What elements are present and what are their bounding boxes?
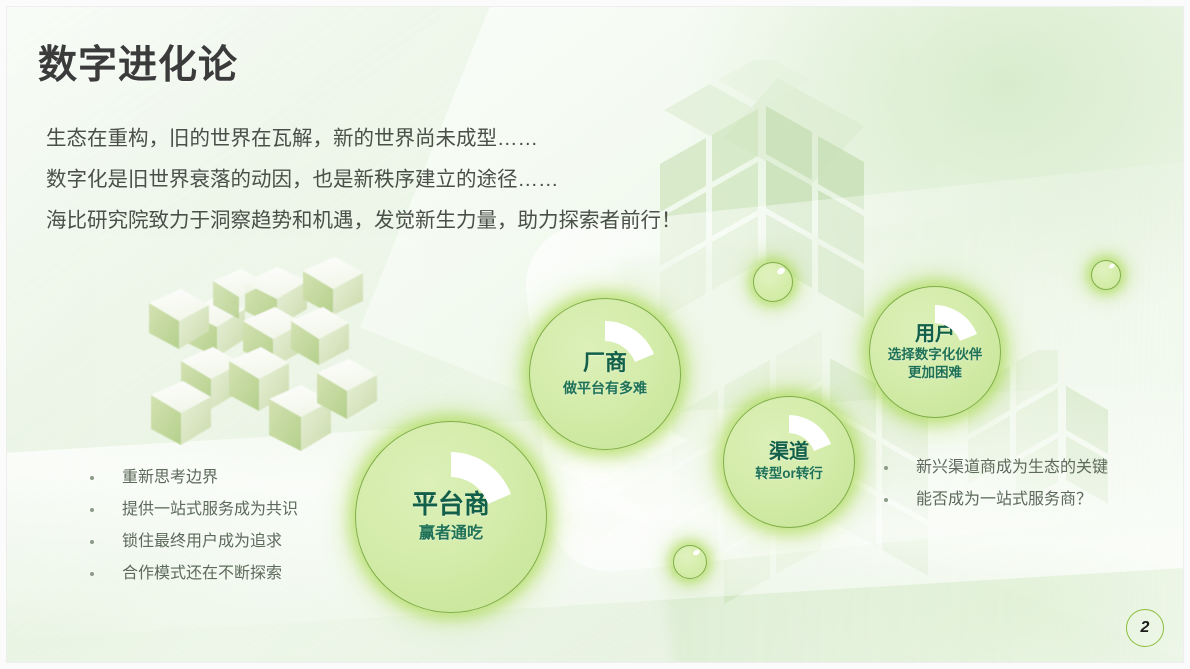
bubble-subtitle: 赢者通吃	[419, 524, 483, 544]
bubble-channel[interactable]: 渠道 转型or转行	[723, 396, 855, 528]
list-item: 新兴渠道商成为生态的关键	[880, 452, 1108, 484]
list-item: 提供一站式服务成为共识	[86, 494, 298, 526]
bubble-subtitle: 做平台有多难	[563, 380, 647, 397]
bubble-user[interactable]: 用户 选择数字化伙伴 更加困难	[869, 286, 1001, 418]
decorative-dot-lower	[673, 545, 707, 579]
slide-canvas: 数字进化论 生态在重构，旧的世界在瓦解，新的世界尚未成型…… 数字化是旧世界衰落…	[0, 0, 1190, 669]
bubble-subtitle: 转型or转行	[755, 466, 823, 482]
lede-line-1: 生态在重构，旧的世界在瓦解，新的世界尚未成型……	[46, 118, 806, 159]
list-item: 重新思考边界	[86, 462, 298, 494]
decorative-dot-upper	[753, 262, 793, 302]
lede-line-2: 数字化是旧世界衰落的动因，也是新秩序建立的途径……	[46, 159, 806, 200]
list-item: 合作模式还在不断探索	[86, 558, 298, 590]
bubble-title: 平台商	[412, 490, 490, 519]
decorative-dot-right	[1091, 260, 1121, 290]
bubble-vendor[interactable]: 厂商 做平台有多难	[529, 298, 681, 450]
bullet-list-left: 重新思考边界 提供一站式服务成为共识 锁住最终用户成为追求 合作模式还在不断探索	[86, 462, 298, 590]
page-number-badge: 2	[1126, 609, 1164, 647]
bullet-list-right: 新兴渠道商成为生态的关键 能否成为一站式服务商？	[880, 452, 1108, 516]
lede-paragraph: 生态在重构，旧的世界在瓦解，新的世界尚未成型…… 数字化是旧世界衰落的动因，也是…	[46, 118, 806, 241]
bubble-platform[interactable]: 平台商 赢者通吃	[355, 421, 547, 613]
bubble-subtitle-line-2: 更加困难	[908, 365, 962, 381]
lede-line-3: 海比研究院致力于洞察趋势和机遇，发觉新生力量，助力探索者前行！	[46, 200, 806, 241]
page-title: 数字进化论	[38, 34, 238, 90]
bubble-title: 厂商	[583, 351, 627, 375]
list-item: 能否成为一站式服务商？	[880, 484, 1108, 516]
list-item: 锁住最终用户成为追求	[86, 526, 298, 558]
bubble-title: 渠道	[769, 441, 809, 463]
bubble-title: 用户	[915, 323, 955, 345]
bubble-subtitle-line-1: 选择数字化伙伴	[888, 347, 983, 363]
